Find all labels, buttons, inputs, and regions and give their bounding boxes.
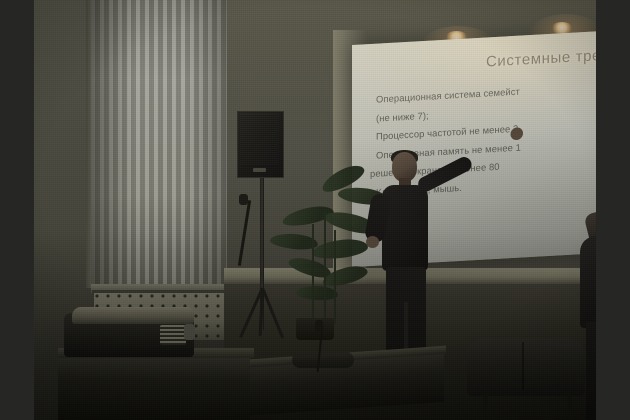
projector-vent (160, 325, 186, 345)
letterbox-bar-right (596, 0, 630, 420)
room-scene: Системные требов Операционная система се… (34, 0, 596, 420)
photograph: Системные требов Операционная система се… (0, 0, 630, 420)
plant-stalk (324, 212, 326, 324)
plant-frond (311, 237, 369, 261)
microphone-base (292, 352, 354, 368)
floor-microphone-head (239, 194, 248, 205)
plant-frond (296, 285, 339, 302)
plant-stalk (334, 230, 336, 324)
letterbox-bar-left (0, 0, 34, 420)
projector-lens (184, 324, 195, 340)
chair-backrest (467, 338, 585, 396)
chair-seam (522, 342, 524, 390)
chair (467, 338, 587, 420)
plant-stalk (312, 224, 314, 324)
pa-speaker-badge (253, 168, 266, 172)
gooseneck-microphone-capsule (315, 320, 323, 332)
projector-housing (72, 307, 194, 324)
vertical-blinds-shading (91, 0, 227, 288)
projector-table (58, 352, 250, 420)
chair-leg (567, 393, 573, 420)
presenter-hand (366, 236, 379, 248)
plant-frond (321, 263, 370, 290)
chair-leg (482, 393, 488, 420)
pa-speaker-grille (240, 114, 279, 166)
